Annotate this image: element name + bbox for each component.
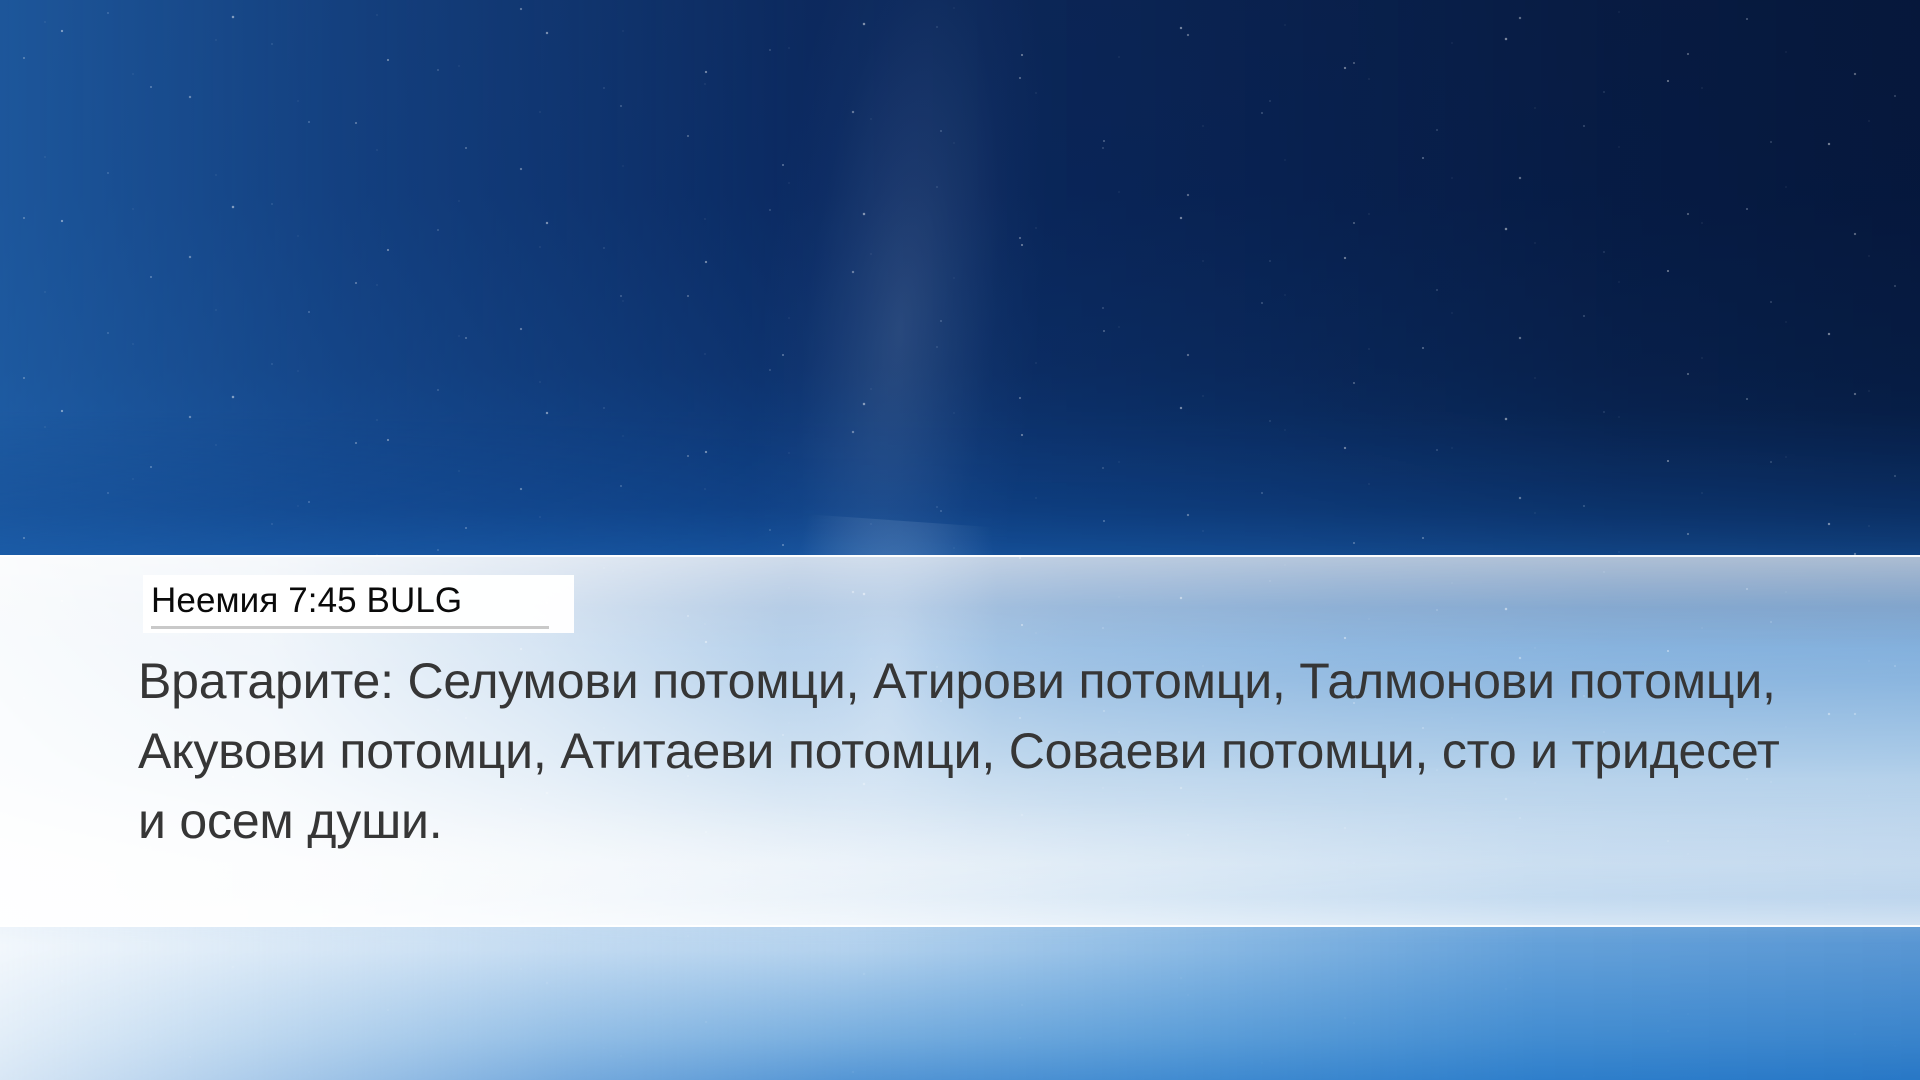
verse-reference-underline	[151, 626, 549, 629]
verse-reference-chip: Неемия 7:45 BULG	[143, 575, 574, 633]
verse-slide: Неемия 7:45 BULG Вратарите: Селумови пот…	[0, 0, 1920, 1080]
band-top-divider	[0, 555, 1920, 557]
band-bottom-divider	[0, 925, 1920, 927]
verse-body-text: Вратарите: Селумови потомци, Атирови пот…	[138, 646, 1798, 856]
verse-reference-label: Неемия 7:45 BULG	[151, 580, 549, 622]
